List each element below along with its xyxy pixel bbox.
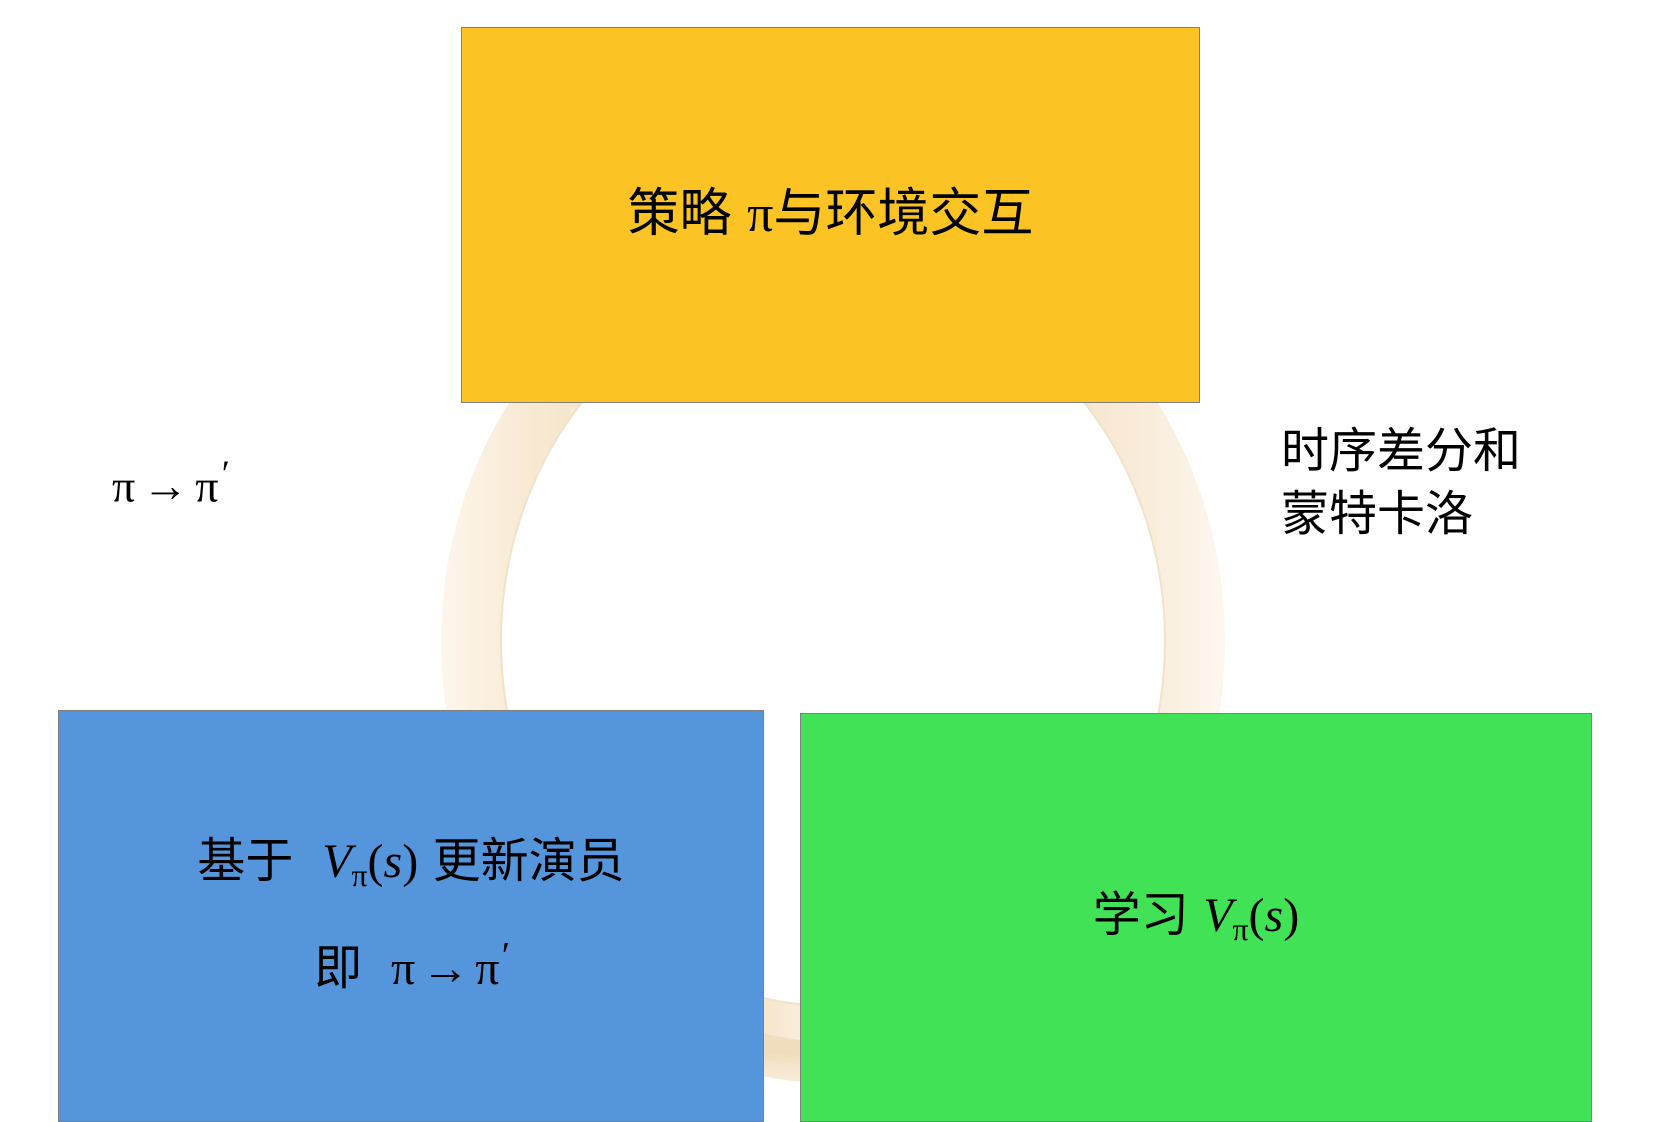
- box-update-actor-s: s: [384, 835, 403, 888]
- box-learn-value-v: V: [1203, 889, 1232, 942]
- box-update-actor-paren-open: (: [368, 835, 384, 888]
- box-learn-value-paren-open: (: [1249, 889, 1265, 942]
- box-learn-value-prefix: 学习: [1093, 889, 1189, 942]
- box-update-actor-prefix: 基于: [197, 835, 293, 888]
- box-update-actor[interactable]: 基于Vπ(s)更新演员 即π→π′: [58, 710, 764, 1122]
- box-update-actor-v: V: [322, 835, 351, 888]
- label-policy-improve-pi-prime-base: π: [195, 460, 219, 511]
- right-arrow-icon: →: [136, 460, 195, 511]
- label-td-mc-line-2: 蒙特卡洛: [1281, 483, 1521, 546]
- box-update-actor-line-2: 即π→π′: [314, 931, 508, 1002]
- box-update-actor-prime-mark: ′: [499, 935, 507, 977]
- box-update-actor-subscript-pi: π: [352, 858, 368, 893]
- label-policy-improvement: π→π′: [112, 452, 229, 512]
- diagram-canvas: 策略π与环境交互 基于Vπ(s)更新演员 即π→π′ 学习Vπ(s) π→π′ …: [0, 0, 1666, 1122]
- right-arrow-icon: →: [415, 942, 475, 995]
- box-update-actor-pi: π: [391, 942, 415, 995]
- box-update-actor-pi-prime-base: π: [475, 942, 499, 995]
- box-learn-value-function[interactable]: 学习Vπ(s): [800, 713, 1592, 1122]
- label-policy-improve-prime-mark: ′: [219, 453, 228, 494]
- label-td-and-monte-carlo: 时序差分和 蒙特卡洛: [1281, 420, 1521, 547]
- box-update-actor-paren-close: ): [402, 835, 418, 888]
- box-update-actor-line-1: 基于Vπ(s)更新演员: [197, 830, 624, 898]
- box-policy-env-pi: π: [747, 186, 773, 243]
- box-policy-environment-interaction[interactable]: 策略π与环境交互: [461, 27, 1200, 403]
- box-update-actor-suffix: 更新演员: [433, 835, 625, 888]
- box-update-actor-ji: 即: [314, 942, 362, 995]
- box-policy-env-prefix: 策略: [628, 186, 732, 243]
- box-learn-value-paren-close: ): [1283, 889, 1299, 942]
- label-policy-improve-pi: π: [112, 460, 136, 511]
- label-td-mc-line-1: 时序差分和: [1281, 420, 1521, 483]
- box-learn-value-line-1: 学习Vπ(s): [1093, 884, 1299, 952]
- box-learn-value-subscript-pi: π: [1233, 912, 1249, 947]
- box-policy-env-suffix: 与环境交互: [773, 186, 1033, 243]
- box-learn-value-s: s: [1265, 889, 1284, 942]
- box-policy-environment-text: 策略π与环境交互: [628, 180, 1034, 250]
